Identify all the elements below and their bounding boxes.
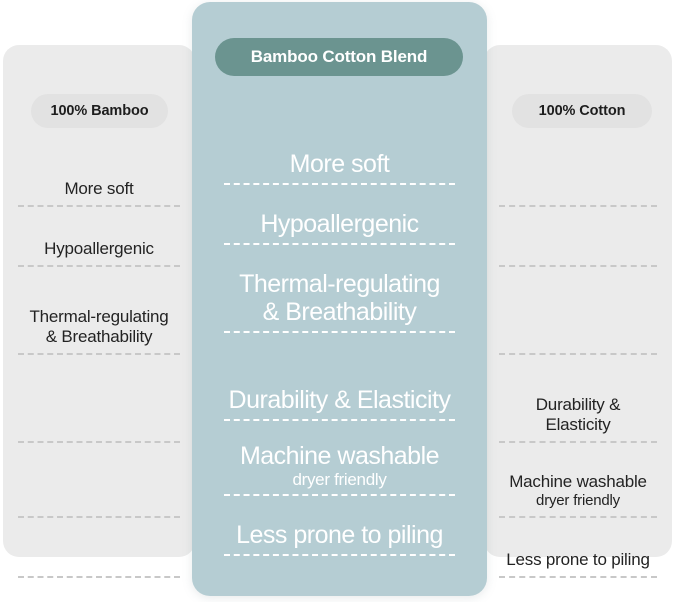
feature-row: More soft bbox=[18, 147, 180, 207]
column-header-cotton: 100% Cotton bbox=[512, 94, 652, 128]
feature-row: Hypoallergenic bbox=[224, 185, 455, 245]
feature-label: More soft bbox=[64, 179, 133, 199]
fabric-comparison-chart: 100% Bamboo More soft Hypoallergenic The… bbox=[0, 0, 679, 602]
feature-label: Thermal-regulating bbox=[29, 307, 168, 327]
feature-row-empty bbox=[18, 443, 180, 518]
feature-row: Thermal-regulating & Breathability bbox=[224, 245, 455, 333]
column-header-bamboo: 100% Bamboo bbox=[31, 94, 168, 128]
feature-label: Hypoallergenic bbox=[44, 239, 154, 259]
feature-row: Less prone to piling bbox=[224, 496, 455, 556]
feature-row: Durability & Elasticity bbox=[499, 355, 657, 443]
feature-row: Less prone to piling bbox=[499, 518, 657, 578]
feature-row: Hypoallergenic bbox=[18, 207, 180, 267]
feature-sublabel: dryer friendly bbox=[536, 492, 620, 510]
feature-list-blend: More soft Hypoallergenic Thermal-regulat… bbox=[192, 125, 487, 556]
feature-label: Less prone to piling bbox=[506, 550, 649, 570]
feature-label: Less prone to piling bbox=[236, 521, 443, 549]
column-header-blend: Bamboo Cotton Blend bbox=[215, 38, 463, 76]
feature-row-empty bbox=[18, 518, 180, 578]
feature-label-line2: Elasticity bbox=[545, 415, 610, 435]
feature-label: Durability & bbox=[536, 395, 621, 415]
feature-label: Machine washable bbox=[509, 472, 647, 492]
feature-label: Machine washable bbox=[240, 442, 439, 470]
feature-row-empty bbox=[18, 355, 180, 443]
feature-row: More soft bbox=[224, 125, 455, 185]
feature-row-empty bbox=[499, 147, 657, 207]
feature-row: Thermal-regulating & Breathability bbox=[18, 267, 180, 355]
feature-row: Durability & Elasticity bbox=[224, 333, 455, 421]
feature-label: More soft bbox=[290, 150, 390, 178]
feature-row-empty bbox=[499, 267, 657, 355]
feature-sublabel: dryer friendly bbox=[292, 470, 386, 489]
feature-label: Hypoallergenic bbox=[260, 210, 418, 238]
feature-label: Durability & Elasticity bbox=[229, 386, 451, 414]
feature-row-empty bbox=[499, 207, 657, 267]
feature-label: Thermal-regulating bbox=[239, 270, 440, 298]
feature-row: Machine washable dryer friendly bbox=[499, 443, 657, 518]
feature-row: Machine washable dryer friendly bbox=[224, 421, 455, 496]
feature-label-line2: & Breathability bbox=[263, 298, 417, 326]
feature-label-line2: & Breathability bbox=[46, 327, 153, 347]
feature-list-cotton: Durability & Elasticity Machine washable… bbox=[484, 147, 672, 578]
feature-list-bamboo: More soft Hypoallergenic Thermal-regulat… bbox=[3, 147, 195, 578]
